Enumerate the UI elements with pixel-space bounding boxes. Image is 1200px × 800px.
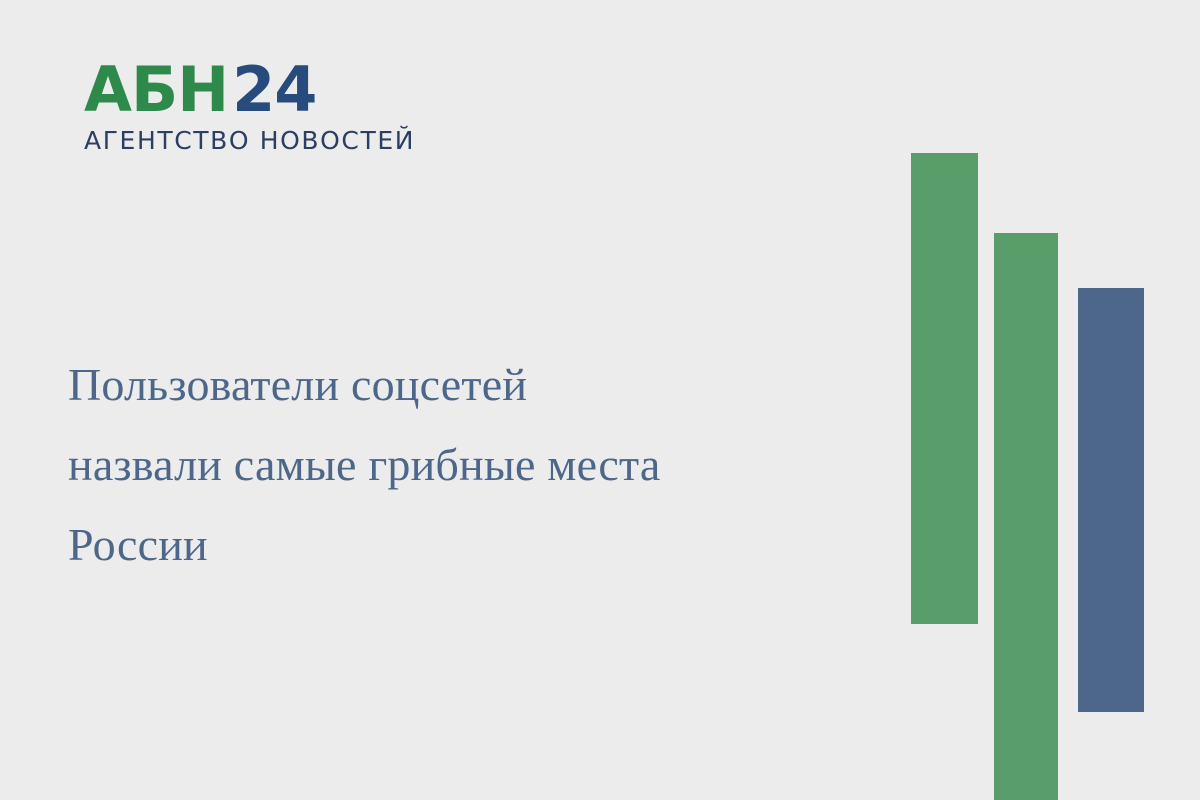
page-title: Пользователи соцсетей назвали самые гриб… (68, 345, 868, 585)
headline-line-2: назвали самые грибные места (68, 425, 868, 505)
headline-line-1: Пользователи соцсетей (68, 345, 868, 425)
headline-line-3: России (68, 505, 868, 585)
news-card: АБН24 АГЕНТСТВО НОВОСТЕЙ Пользователи со… (0, 0, 1200, 800)
logo-text-abn: АБН (84, 53, 228, 126)
chart-bar-2 (994, 233, 1058, 800)
logo-text-24: 24 (232, 53, 316, 126)
logo-wordmark: АБН24 (84, 58, 384, 122)
abn24-logo[interactable]: АБН24 АГЕНТСТВО НОВОСТЕЙ (84, 58, 384, 163)
chart-bar-3 (1078, 288, 1144, 712)
logo-tagline: АГЕНТСТВО НОВОСТЕЙ (84, 126, 384, 156)
chart-bar-1 (911, 153, 978, 624)
